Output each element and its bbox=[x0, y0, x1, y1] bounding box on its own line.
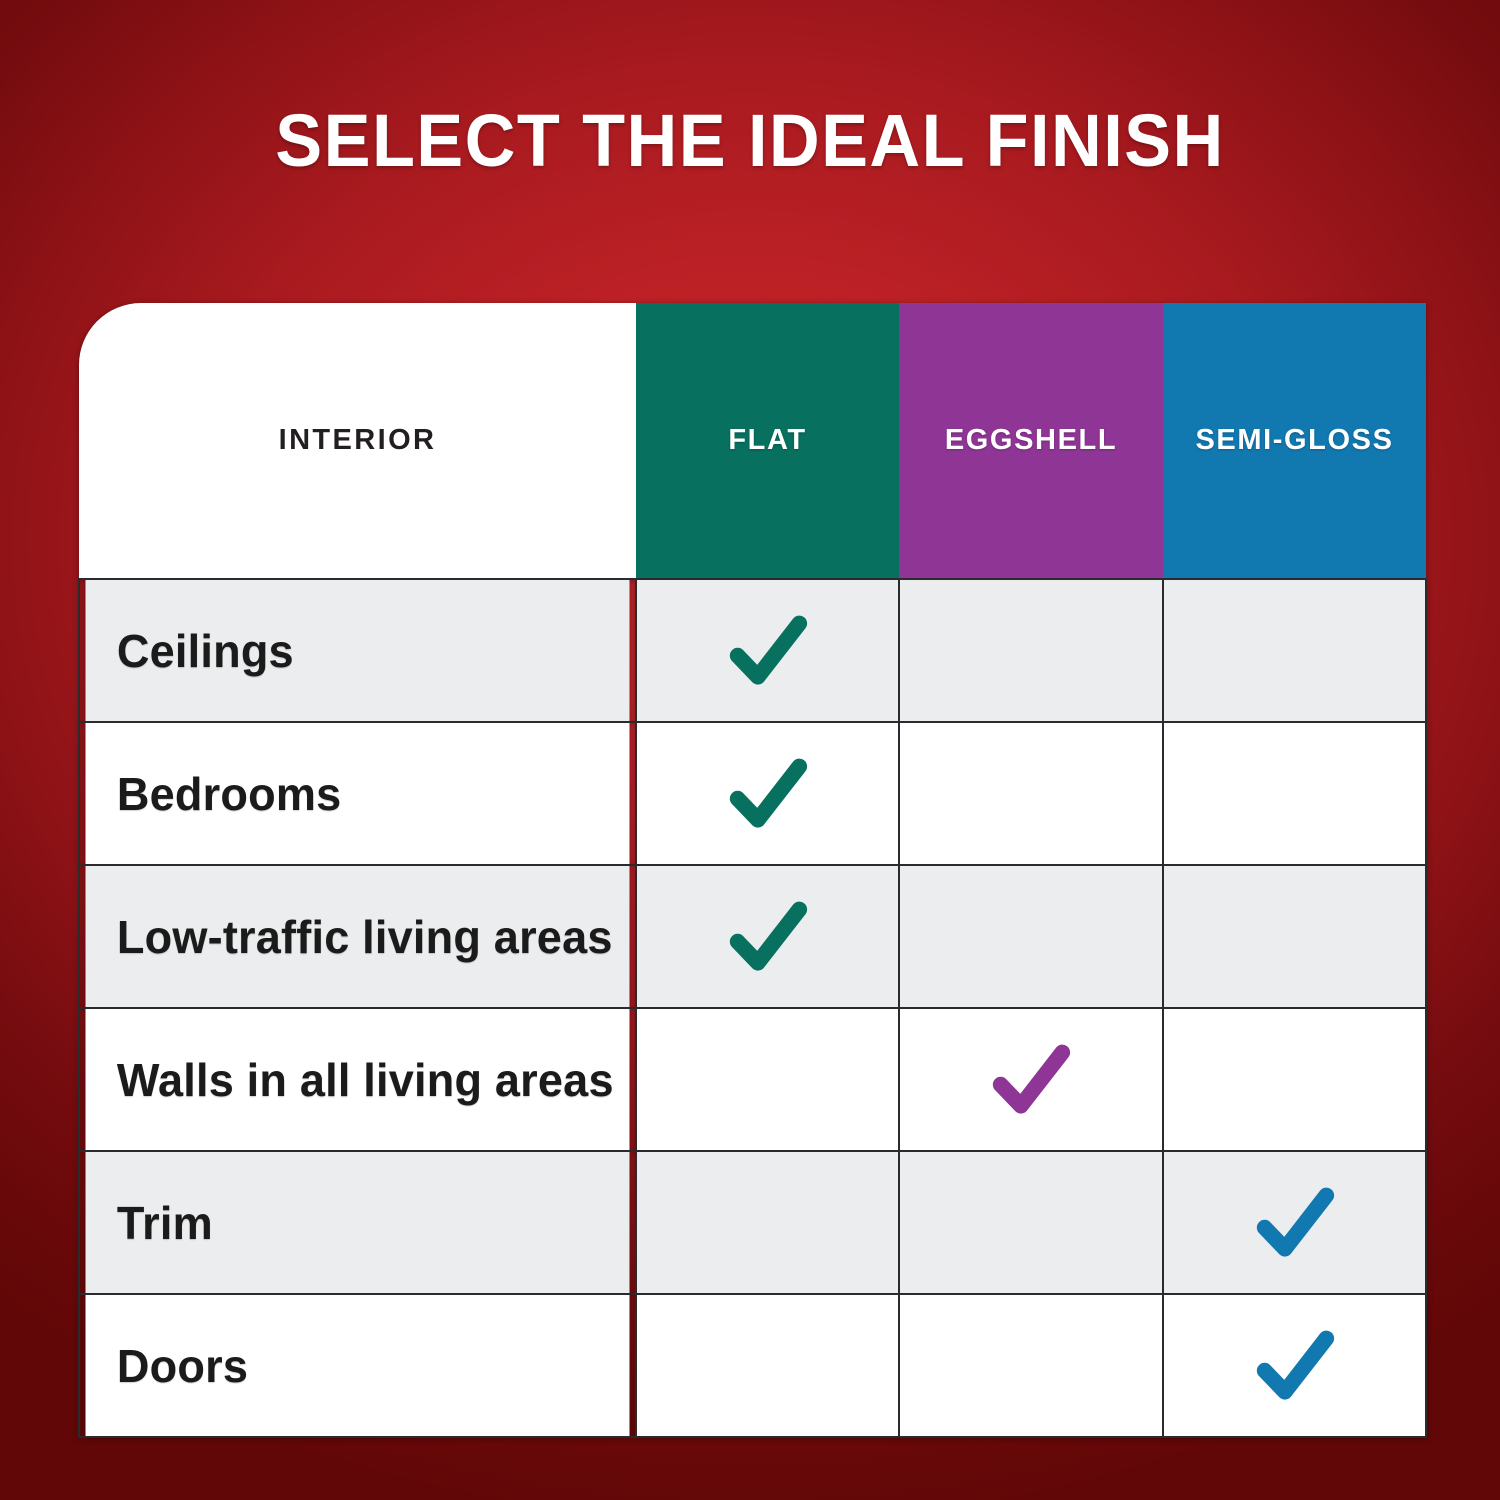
cell-semigloss bbox=[1163, 579, 1426, 722]
cell-eggshell bbox=[899, 1294, 1163, 1437]
poster-canvas: SELECT THE IDEAL FINISH INTERIOR FLAT EG… bbox=[0, 0, 1500, 1500]
cell-semigloss bbox=[1163, 1008, 1426, 1151]
checkmark-icon bbox=[722, 748, 814, 840]
cell-flat bbox=[636, 1008, 899, 1151]
row-label-cell: Bedrooms bbox=[85, 722, 631, 865]
cell-eggshell bbox=[899, 865, 1163, 1008]
table-body: CeilingsBedroomsLow-traffic living areas… bbox=[79, 579, 1426, 1437]
row-label-cell: Low-traffic living areas bbox=[85, 865, 631, 1008]
table-row: Doors bbox=[79, 1294, 1426, 1437]
page-title: SELECT THE IDEAL FINISH bbox=[38, 104, 1463, 178]
checkmark-icon bbox=[722, 891, 814, 983]
cell-eggshell bbox=[899, 722, 1163, 865]
checkmark-icon bbox=[1249, 1177, 1341, 1269]
cell-eggshell bbox=[899, 1151, 1163, 1294]
column-header-flat: FLAT bbox=[636, 303, 899, 579]
column-header-eggshell: EGGSHELL bbox=[899, 303, 1163, 579]
table-row: Walls in all living areas bbox=[79, 1008, 1426, 1151]
cell-flat bbox=[636, 1151, 899, 1294]
cell-eggshell bbox=[899, 579, 1163, 722]
table-header: INTERIOR FLAT EGGSHELL SEMI-GLOSS bbox=[79, 303, 1426, 579]
finish-comparison-table: INTERIOR FLAT EGGSHELL SEMI-GLOSS Ceilin… bbox=[78, 303, 1427, 1438]
table-row: Trim bbox=[79, 1151, 1426, 1294]
row-label-cell: Walls in all living areas bbox=[85, 1008, 631, 1151]
finish-comparison-table-wrapper: INTERIOR FLAT EGGSHELL SEMI-GLOSS Ceilin… bbox=[78, 303, 1425, 1425]
cell-semigloss bbox=[1163, 1151, 1426, 1294]
cell-semigloss bbox=[1163, 1294, 1426, 1437]
cell-semigloss bbox=[1163, 865, 1426, 1008]
column-header-interior: INTERIOR bbox=[79, 303, 636, 579]
cell-flat bbox=[636, 865, 899, 1008]
column-header-semi-gloss: SEMI-GLOSS bbox=[1163, 303, 1426, 579]
cell-flat bbox=[636, 1294, 899, 1437]
cell-flat bbox=[636, 722, 899, 865]
checkmark-icon bbox=[722, 605, 814, 697]
table-row: Ceilings bbox=[79, 579, 1426, 722]
row-label-cell: Doors bbox=[85, 1294, 631, 1437]
cell-eggshell bbox=[899, 1008, 1163, 1151]
table-row: Bedrooms bbox=[79, 722, 1426, 865]
cell-flat bbox=[636, 579, 899, 722]
table-row: Low-traffic living areas bbox=[79, 865, 1426, 1008]
checkmark-icon bbox=[1249, 1320, 1341, 1412]
checkmark-icon bbox=[985, 1034, 1077, 1126]
row-label-cell: Trim bbox=[85, 1151, 631, 1294]
cell-semigloss bbox=[1163, 722, 1426, 865]
table-header-row: INTERIOR FLAT EGGSHELL SEMI-GLOSS bbox=[79, 303, 1426, 579]
row-label-cell: Ceilings bbox=[85, 579, 631, 722]
